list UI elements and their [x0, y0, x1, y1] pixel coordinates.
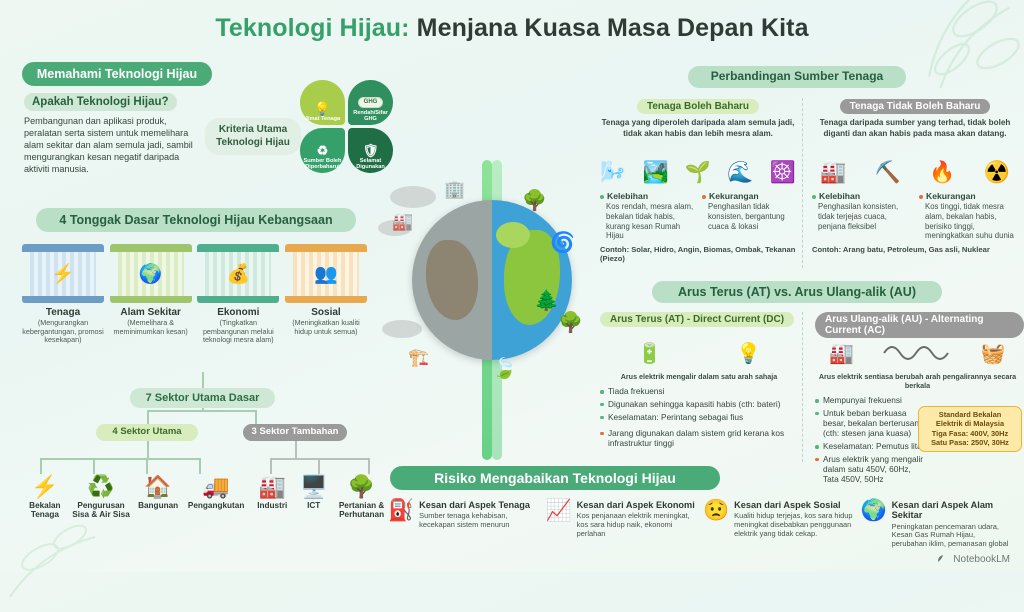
sector-pengangkutan: 🚚 Pengangkutan — [184, 476, 248, 520]
risk-title: Kesan dari Aspek Sosial — [734, 500, 854, 510]
risks-row: ⛽ Kesan dari Aspek Tenaga Sumber tenaga … — [388, 500, 1012, 549]
turbine-icon: ☸️ — [770, 161, 796, 185]
section-header-perbandingan: Perbandingan Sumber Tenaga — [688, 66, 906, 88]
risk-title: Kesan dari Aspek Tenaga — [419, 500, 539, 510]
risk-card-tenaga: ⛽ Kesan dari Aspek Tenaga Sumber tenaga … — [388, 500, 540, 549]
nonrenewable-icons-row: 🏭 ⛏️ 🔥 ☢️ — [812, 145, 1018, 185]
risk-body: Kualiti hidup terjejas, kos sara hidup m… — [734, 512, 854, 539]
kelebihan-title: Kelebihan — [819, 191, 860, 201]
pillar-ekonomi: 💰 Ekonomi (Tingkatkan pembangunan melalu… — [197, 244, 279, 345]
factory-icon: 🏭 — [392, 212, 413, 232]
smoke-cloud-icon — [382, 320, 422, 338]
wave-icon: 🌊 — [727, 161, 753, 185]
pillar-cap — [22, 244, 104, 252]
ac-bullet: Keselamatan: Pemutus litar — [815, 441, 927, 451]
column-divider — [802, 98, 803, 268]
ac-bullet-list: Mempunyai frekuensi Untuk beban berkuasa… — [815, 395, 927, 485]
pillar-base — [197, 296, 279, 303]
biomass-icon: 🌱 — [685, 161, 711, 185]
pillars-group: ⚡ Tenaga (Mengurangkan kebergantungan, p… — [22, 244, 367, 345]
pillar-cap — [197, 244, 279, 252]
tree-icon: 🌳 — [522, 188, 547, 213]
people-icon: 👥 — [293, 252, 359, 296]
pillar-sub: (Mengurangkan kebergantungan, promosi ke… — [22, 319, 104, 345]
sector-bangunan: 🏠 Bangunan — [132, 476, 184, 520]
sector-label: Bangunan — [132, 501, 184, 510]
tree-connector — [295, 441, 297, 459]
page-title-rest: Menjana Kuasa Masa Depan Kita — [410, 14, 809, 42]
bolt-icon: ⚡ — [30, 252, 96, 296]
page-title-accent: Teknologi Hijau: — [215, 14, 409, 42]
section-header-risiko: Risiko Mengabaikan Teknologi Hijau — [390, 466, 720, 490]
branch-3-sektor-tambahan: 3 Sektor Tambahan — [243, 424, 347, 441]
tree-connector — [147, 441, 149, 459]
sector-industri: 🏭 Industri — [248, 476, 296, 520]
tree-icon: 🌲 — [534, 288, 559, 313]
sector-label: Pertanian & Perhutanan — [331, 501, 392, 520]
lightbulb-icon: 💡 — [314, 102, 330, 115]
tree-connector — [255, 410, 257, 424]
pillar-name: Sosial — [285, 307, 367, 318]
tree-connector — [318, 458, 320, 474]
dc-bullet: Jarang digunakan dalam sistem grid keran… — [600, 428, 798, 449]
kelebihan-body: Penghasilan konsisten, tidak terjejas cu… — [812, 202, 911, 231]
tree-connector — [199, 458, 201, 474]
kekurangan-title: Kekurangan — [709, 191, 759, 201]
standard-line-4: Satu Pasa: 250V, 30Hz — [923, 438, 1017, 447]
pill-arus-ulang-alik: Arus Ulang-alik (AU) - Alternating Curre… — [815, 312, 1024, 338]
dc-content: 🔋 💡 Arus elektrik mengalir dalam satu ar… — [600, 336, 798, 451]
bolt-icon: ⚡ — [20, 476, 70, 498]
coal-plant-icon: 🏭 — [820, 161, 846, 185]
kriteria-petal-label: Sumber Boleh Diperbaharui — [300, 158, 345, 171]
dc-bullet-list: Tiada frekuensi Digunakan sehingga kapas… — [600, 386, 798, 448]
sector-pertanian: 🌳 Pertanian & Perhutanan — [331, 476, 392, 520]
card-apakah-teknologi-hijau: Apakah Teknologi Hijau? Pembangunan dan … — [24, 92, 206, 175]
risk-card-sosial: 😟 Kesan dari Aspek Sosial Kualiti hidup … — [703, 500, 855, 549]
section-header-memahami: Memahami Teknologi Hijau — [22, 62, 212, 86]
pill-arus-terus: Arus Terus (AT) - Direct Current (DC) — [600, 312, 794, 327]
sectors-row: ⚡ Bekalan Tenaga ♻️ Pengurusan Sisa & Ai… — [20, 476, 392, 520]
standard-bekalan-box: Standard Bekalan Elektrik di Malaysia Ti… — [918, 406, 1022, 452]
kelebihan-title: Kelebihan — [607, 191, 648, 201]
kelebihan-body: Kos rendah, mesra alam, bekalan tidak ha… — [600, 202, 694, 241]
nonrenewable-kekurangan: Kekurangan Kos tinggi, tidak mesra alam,… — [919, 191, 1018, 241]
ac-bullet: Arus elektrik yang mengalir dalam satu 4… — [815, 454, 927, 485]
nonrenewable-description: Tenaga daripada sumber yang terhad, tida… — [812, 118, 1018, 139]
tree-connector — [202, 372, 204, 388]
power-plant-icon: 🏭 — [829, 341, 854, 366]
bullet-dot-icon — [600, 195, 604, 199]
lightbulb-icon: 💡 — [736, 341, 761, 366]
earth-illustration: 🏭 🏗️ 🏢 🌳 🌀 🌲 🌳 🍃 — [372, 160, 600, 460]
risk-card-ekonomi: 📈 Kesan dari Aspek Ekonomi Kos penjanaan… — [546, 500, 698, 549]
risk-body: Peningkatan pencemaran udara, Kesan Gas … — [892, 523, 1012, 550]
factory-icon: 🏭 — [248, 476, 296, 498]
earth-globe — [412, 200, 572, 360]
tree-connector — [40, 458, 42, 474]
polluted-hemisphere — [426, 240, 478, 320]
nonrenewable-contoh: Contoh: Arang batu, Petroleum, Gas asli,… — [812, 245, 1018, 254]
tree-icon: 🌳 — [558, 310, 583, 335]
kriteria-petal-label: Rendah/Sifar GHG — [348, 110, 393, 123]
tree-connector — [147, 410, 149, 424]
dc-icons-row: 🔋 💡 — [600, 336, 798, 370]
wind-turbine-icon: 🌬️ — [600, 161, 626, 185]
shield-check-icon: 🛡 — [362, 144, 379, 157]
watermark: NotebookLM — [937, 553, 1010, 565]
gas-flame-icon: 🔥 — [929, 161, 955, 185]
coin-hand-icon: 💰 — [205, 252, 271, 296]
notebooklm-icon — [937, 553, 949, 565]
risk-title: Kesan dari Aspek Ekonomi — [577, 500, 697, 510]
pillar-cap — [285, 244, 367, 252]
kekurangan-body: Kos tinggi, tidak mesra alam, bekalan ha… — [919, 202, 1018, 241]
factory-icon: 🏢 — [444, 180, 465, 200]
sector-label: Industri — [248, 501, 296, 510]
section-header-arus: Arus Terus (AT) vs. Arus Ulang-alik (AU) — [652, 281, 942, 303]
pill-tenaga-tidak-boleh-baharu: Tenaga Tidak Boleh Baharu — [840, 99, 991, 114]
risk-body: Kos penjanaan elektrik meningkat, kos sa… — [577, 512, 697, 539]
washing-machine-icon: 🧺 — [981, 341, 1006, 366]
sine-wave-icon — [882, 340, 952, 366]
section-header-7-sektor: 7 Sektor Utama Dasar — [130, 388, 275, 408]
risk-title: Kesan dari Aspek Alam Sekitar — [892, 500, 1012, 521]
pillar-tenaga: ⚡ Tenaga (Mengurangkan kebergantungan, p… — [22, 244, 104, 345]
truck-icon: 🚚 — [184, 476, 248, 498]
pillar-name: Alam Sekitar — [110, 307, 192, 318]
pillar-alam-sekitar: 🌍 Alam Sekitar (Memelihara & meminimumka… — [110, 244, 192, 345]
battery-icon: 🔋 — [637, 341, 662, 366]
nuclear-icon: ☢️ — [984, 161, 1010, 185]
renewable-kekurangan: Kekurangan Penghasilan tidak konsisten, … — [702, 191, 796, 241]
kriteria-petal-rendah-ghg: GHG Rendah/Sifar GHG — [348, 80, 393, 125]
standard-line-1: Standard Bekalan — [923, 410, 1017, 419]
tree-icon: 🍃 — [492, 356, 517, 381]
hands-earth-icon: 🌍 — [118, 252, 184, 296]
branch-4-sektor-utama: 4 Sektor Utama — [96, 424, 198, 441]
pillar-base — [285, 296, 367, 303]
smoke-cloud-icon — [390, 186, 436, 208]
factory-icon: 🏗️ — [408, 348, 429, 368]
standard-line-2: Elektrik di Malaysia — [923, 419, 1017, 428]
pillar-name: Ekonomi — [197, 307, 279, 318]
sector-pengurusan-sisa: ♻️ Pengurusan Sisa & Air Sisa — [70, 476, 133, 520]
renewable-description: Tenaga yang diperoleh daripada alam semu… — [600, 118, 796, 139]
risk-body: Sumber tenaga kehabisan, kecekapan siste… — [419, 512, 539, 530]
sector-label: Pengurusan Sisa & Air Sisa — [70, 501, 133, 520]
sector-bekalan-tenaga: ⚡ Bekalan Tenaga — [20, 476, 70, 520]
tree-connector — [270, 458, 272, 474]
risk-card-alam-sekitar: 🌍 Kesan dari Aspek Alam Sekitar Peningka… — [861, 500, 1013, 549]
recycle-icon: ♻️ — [70, 476, 133, 498]
column-divider — [802, 312, 803, 462]
section-header-tonggak: 4 Tonggak Dasar Teknologi Hijau Kebangsa… — [36, 208, 356, 232]
pillar-sosial: 👥 Sosial (Meningkatkan kualiti hidup unt… — [285, 244, 367, 345]
pillar-sub: (Meningkatkan kualiti hidup untuk semua) — [285, 319, 367, 336]
standard-line-3: Tiga Fasa: 400V, 30Hz — [923, 429, 1017, 438]
pill-tenaga-boleh-baharu: Tenaga Boleh Baharu — [637, 99, 759, 114]
watermark-label: NotebookLM — [953, 554, 1010, 565]
dc-lead: Arus elektrik mengalir dalam satu arah s… — [600, 372, 798, 381]
pillar-sub: (Memelihara & meminimumkan kesan) — [110, 319, 192, 336]
ac-bullet: Mempunyai frekuensi — [815, 395, 927, 405]
dc-bullet: Digunakan sehingga kapasiti habis (cth: … — [600, 399, 798, 409]
tree-connector — [368, 458, 370, 474]
bullet-dot-icon — [702, 195, 706, 199]
card-apakah-body: Pembangunan dan aplikasi produk, peralat… — [24, 115, 206, 175]
kriteria-utama-label: Kriteria Utama Teknologi Hijau — [205, 118, 301, 155]
pillar-sub: (Tingkatkan pembangunan melalui teknolog… — [197, 319, 279, 345]
tree-connector — [146, 458, 148, 474]
column-tenaga-tidak-boleh-baharu: Tenaga Tidak Boleh Baharu Tenaga daripad… — [812, 96, 1018, 254]
tree-connector — [93, 458, 95, 474]
renewable-icons-row: 🌬️ 🏞️ 🌱 🌊 ☸️ — [600, 145, 796, 185]
page-title: Teknologi Hijau: Menjana Kuasa Masa Depa… — [0, 14, 1024, 43]
polluted-earth-icon: 🌍 — [861, 500, 887, 549]
pillar-base — [110, 296, 192, 303]
oil-pump-icon: ⛏️ — [875, 161, 901, 185]
nonrenewable-pros-cons: Kelebihan Penghasilan konsisten, tidak t… — [812, 191, 1018, 241]
card-apakah-heading: Apakah Teknologi Hijau? — [24, 93, 177, 111]
building-icon: 🏠 — [132, 476, 184, 498]
pillar-name: Tenaga — [22, 307, 104, 318]
pillar-cap — [110, 244, 192, 252]
hydro-dam-icon: 🏞️ — [642, 161, 668, 185]
kekurangan-title: Kekurangan — [926, 191, 976, 201]
pillar-base — [22, 296, 104, 303]
fuel-pump-icon: ⛽ — [388, 500, 414, 549]
computer-icon: 🖥️ — [296, 476, 331, 498]
tree-connector — [40, 458, 200, 460]
dc-bullet: Keselamatan: Perintang sebagai fius — [600, 412, 798, 422]
bullet-dot-icon — [812, 195, 816, 199]
green-hemisphere — [496, 222, 530, 248]
ghg-badge-icon: GHG — [358, 97, 384, 108]
renewable-kelebihan: Kelebihan Kos rendah, mesra alam, bekala… — [600, 191, 694, 241]
stressed-person-icon: 😟 — [703, 500, 729, 549]
rising-chart-icon: 📈 — [546, 500, 572, 549]
sector-label: ICT — [296, 501, 331, 510]
kriteria-petal-jimat-tenaga: 💡 Jimat Tenaga — [300, 80, 345, 125]
dc-bullet: Tiada frekuensi — [600, 386, 798, 396]
ac-lead: Arus elektrik sentiasa berubah arah peng… — [815, 372, 1020, 390]
wind-turbine-icon: 🌀 — [550, 230, 575, 255]
ac-bullet: Untuk beban berkuasa besar, bekalan bert… — [815, 408, 927, 439]
ac-icons-row: 🏭 🧺 — [815, 336, 1020, 370]
leaf-decoration-icon — [0, 442, 170, 612]
sector-ict: 🖥️ ICT — [296, 476, 331, 520]
sector-label: Bekalan Tenaga — [20, 501, 70, 520]
recycle-icon: ♻ — [317, 144, 329, 157]
nonrenewable-kelebihan: Kelebihan Penghasilan konsisten, tidak t… — [812, 191, 911, 241]
kriteria-petal-sumber-boleh-diperbaharui: ♻ Sumber Boleh Diperbaharui — [300, 128, 345, 173]
renewable-pros-cons: Kelebihan Kos rendah, mesra alam, bekala… — [600, 191, 796, 241]
tree-connector — [270, 458, 370, 460]
column-tenaga-boleh-baharu: Tenaga Boleh Baharu Tenaga yang diperole… — [600, 96, 796, 263]
tree-icon: 🌳 — [331, 476, 392, 498]
renewable-contoh: Contoh: Solar, Hidro, Angin, Biomas, Omb… — [600, 245, 796, 263]
bullet-dot-icon — [919, 195, 923, 199]
kekurangan-body: Penghasilan tidak konsisten, bergantung … — [702, 202, 796, 231]
sector-label: Pengangkutan — [184, 501, 248, 510]
kriteria-petal-label: Jimat Tenaga — [305, 116, 340, 122]
